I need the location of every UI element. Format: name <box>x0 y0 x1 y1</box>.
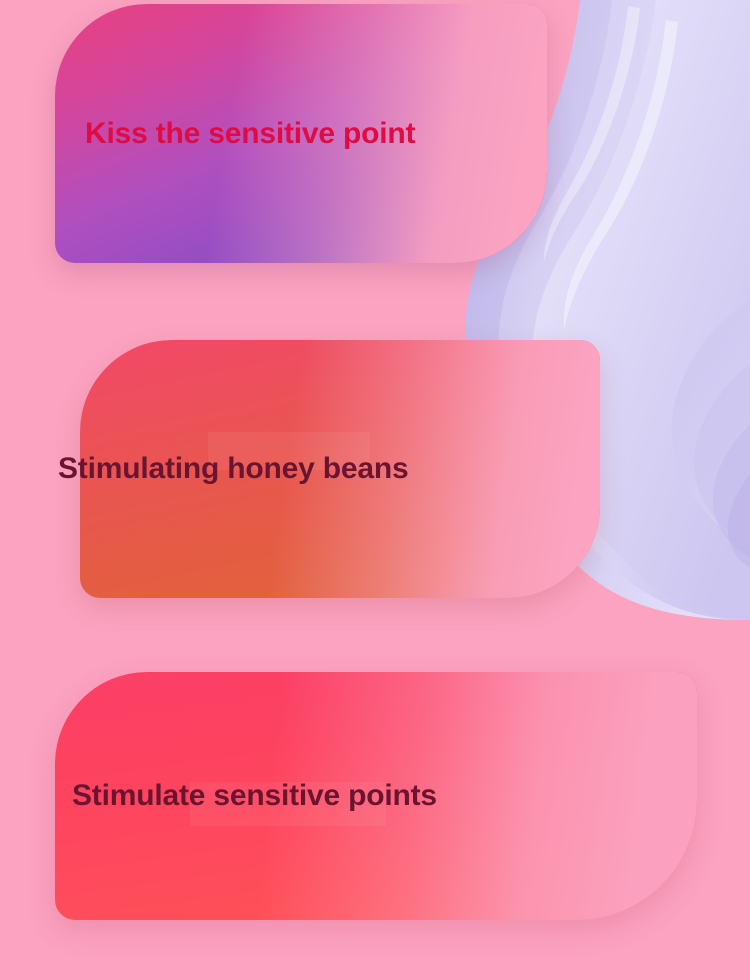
card-2-label: Stimulating honey beans <box>58 452 408 486</box>
feature-card-kiss-the-sensitive-point[interactable]: Kiss the sensitive point <box>55 4 547 263</box>
card-3-label: Stimulate sensitive points <box>72 779 437 813</box>
feature-card-stimulate-sensitive-points[interactable]: Stimulate sensitive points <box>55 672 697 920</box>
feature-card-stimulating-honey-beans[interactable]: Stimulating honey beans <box>80 340 600 598</box>
promo-poster: Kiss the sensitive point Stimulating hon… <box>0 0 750 980</box>
card-1-label: Kiss the sensitive point <box>85 117 415 151</box>
